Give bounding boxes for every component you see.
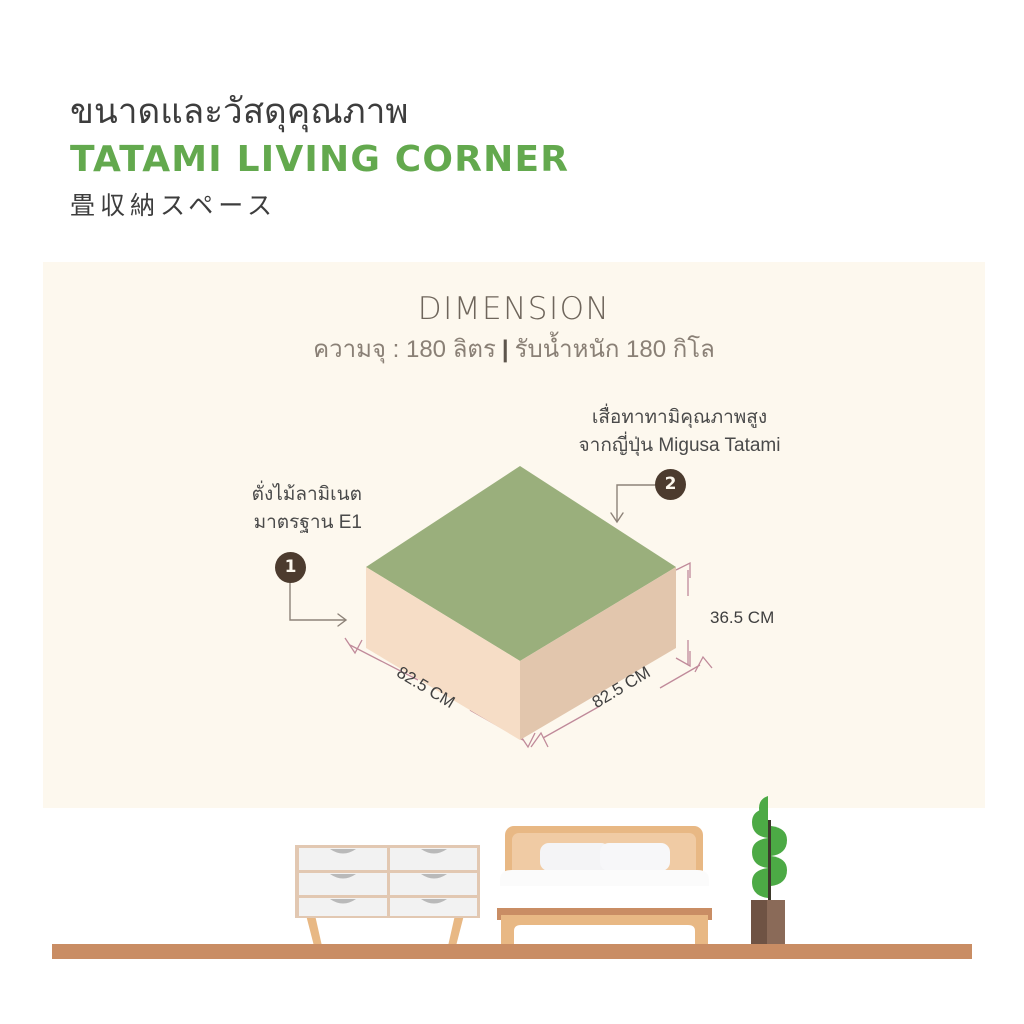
- callout-1-text: ตั่งไม้ลามิเนต มาตรฐาน E1: [232, 481, 362, 537]
- plant-pot-right: [767, 900, 785, 946]
- page-title-japanese: 畳収納スペース: [70, 188, 770, 224]
- callout-1-line-1: ตั่งไม้ลามิเนต: [252, 484, 362, 505]
- drawer-handle: [421, 874, 447, 879]
- callout-2-text: เสื่อทาทามิคุณภาพสูง จากญี่ปุ่น Migusa T…: [562, 404, 797, 460]
- dresser-drawer: [299, 873, 387, 895]
- dimension-heading: DIMENSION: [43, 290, 985, 328]
- page-title-thai: ขนาดและวัสดุคุณภาพ: [70, 90, 770, 134]
- subtitle-separator: |: [496, 336, 515, 363]
- dresser-leg-right: [448, 915, 464, 946]
- weight-label: รับน้ำหนัก 180 กิโล: [515, 336, 715, 363]
- plant-leaf: [771, 826, 787, 856]
- page-title-english: TATAMI LIVING CORNER: [70, 136, 770, 184]
- callout-badge-1: 1: [275, 552, 306, 583]
- dimension-panel: DIMENSION ความจุ : 180 ลิตร|รับน้ำหนัก 1…: [43, 262, 985, 808]
- header: ขนาดและวัสดุคุณภาพ TATAMI LIVING CORNER …: [70, 90, 770, 224]
- plant-leaf: [771, 856, 787, 886]
- plant-leaf: [752, 808, 768, 838]
- capacity-label: ความจุ : 180 ลิตร: [313, 336, 496, 363]
- plant-stem: [768, 820, 771, 905]
- bed-headboard-inner: [512, 833, 696, 883]
- potted-plant: [751, 796, 787, 946]
- dresser-body: [295, 845, 480, 918]
- dresser-drawer: [390, 873, 477, 895]
- drawer-handle: [421, 849, 447, 854]
- dresser-drawer: [299, 848, 387, 870]
- callout-badge-2: 2: [655, 469, 686, 500]
- double-bed: [497, 826, 712, 945]
- dimension-subtitle: ความจุ : 180 ลิตร|รับน้ำหนัก 180 กิโล: [43, 334, 985, 366]
- plant-leaf: [752, 838, 768, 868]
- dresser-drawer: [390, 898, 477, 916]
- plant-pot-left: [751, 900, 767, 946]
- bed-pillow-right: [600, 843, 670, 871]
- bed-legs: [501, 915, 708, 945]
- floor-bar: [52, 944, 972, 959]
- callout-2-line-1: เสื่อทาทามิคุณภาพสูง: [592, 407, 767, 428]
- drawer-handle: [330, 874, 356, 879]
- plant-leaf: [752, 868, 768, 898]
- callout-2-line-2: จากญี่ปุ่น Migusa Tatami: [562, 432, 797, 460]
- bed-duvet: [497, 886, 712, 908]
- dresser-drawer: [299, 898, 387, 916]
- bed-pillow-left: [540, 843, 610, 871]
- bed-headboard: [505, 826, 703, 888]
- dresser-drawer: [390, 848, 477, 870]
- drawer-handle: [330, 899, 356, 904]
- bed-base: [497, 908, 712, 920]
- callout-1-line-2: มาตรฐาน E1: [232, 509, 362, 537]
- drawer-handle: [330, 849, 356, 854]
- bed-mattress: [500, 870, 709, 908]
- infographic-canvas: ขนาดและวัสดุคุณภาพ TATAMI LIVING CORNER …: [0, 0, 1024, 1024]
- drawer-handle: [421, 899, 447, 904]
- dresser-leg-left: [306, 915, 322, 946]
- six-drawer-dresser: [295, 845, 480, 946]
